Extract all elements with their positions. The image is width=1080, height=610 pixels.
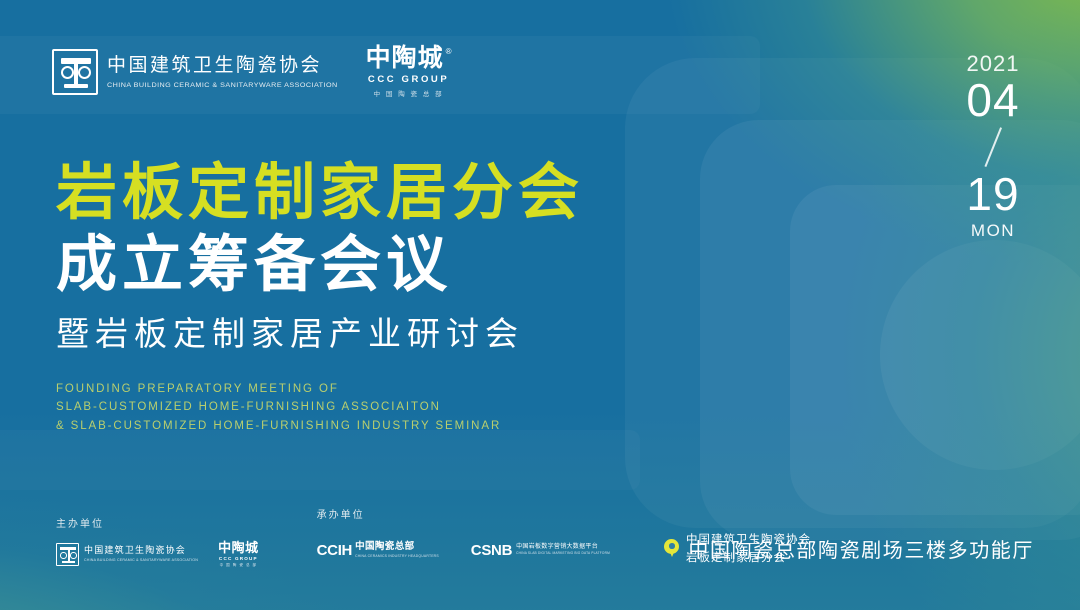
title-line-1: 岩板定制家居分会 bbox=[56, 158, 584, 226]
organizer-cbcsa-english: CHINA BUILDING CERAMIC & SANITARYWARE AS… bbox=[84, 558, 198, 562]
ccih-english: CHINA CERAMICS INDUSTRY HEADQUARTERS bbox=[355, 554, 439, 558]
organizer-group: 主办单位 中国建筑卫生陶瓷协会 CHINA BUILDING CERAMIC &… bbox=[56, 515, 259, 568]
date-month: 04 bbox=[950, 76, 1036, 124]
organizer-ccc-subtitle: 中 国 陶 瓷 总 部 bbox=[220, 563, 258, 568]
host-logo-csnb: CSNB 中国岩板数字营销大数据平台 CHINA SLAB DIGITAL MA… bbox=[471, 543, 610, 558]
ccc-chinese-name: 中陶城 bbox=[366, 46, 444, 71]
csnb-mark: CSNB bbox=[471, 543, 512, 558]
host-logo-ccih: CCIH 中国陶瓷总部 CHINA CERAMICS INDUSTRY HEAD… bbox=[317, 542, 439, 558]
cbcsa-emblem-icon-small bbox=[56, 543, 79, 566]
ccih-chinese: 中国陶瓷总部 bbox=[355, 542, 439, 552]
subtitle-english-block: FOUNDING PREPARATORY MEETING OF SLAB-CUS… bbox=[56, 380, 584, 436]
venue-text: 中国陶瓷总部陶瓷剧场三楼多功能厅 bbox=[688, 534, 1034, 563]
csnb-chinese: 中国岩板数字营销大数据平台 bbox=[516, 544, 610, 551]
organizer-logo-ccc: 中陶城 CCC GROUP 中 国 陶 瓷 总 部 bbox=[218, 541, 259, 568]
header-logos: 中国建筑卫生陶瓷协会 CHINA BUILDING CERAMIC & SANI… bbox=[52, 46, 452, 98]
ccih-mark: CCIH bbox=[317, 543, 352, 558]
organizer-logo-cbcsa: 中国建筑卫生陶瓷协会 CHINA BUILDING CERAMIC & SANI… bbox=[56, 543, 198, 566]
date-day: 19 bbox=[950, 170, 1036, 218]
organizer-ccc-chinese: 中陶城 bbox=[218, 541, 259, 554]
csnb-english: CHINA SLAB DIGITAL MARKETING BIG DATA PL… bbox=[516, 552, 610, 556]
date-year: 2021 bbox=[950, 52, 1036, 76]
date-weekday: MON bbox=[950, 221, 1036, 241]
map-pin-icon bbox=[664, 539, 679, 558]
subtitle-english-line-2: SLAB-CUSTOMIZED HOME-FURNISHING ASSOCIAI… bbox=[56, 398, 584, 417]
event-date-block: 2021 04 19 MON bbox=[950, 52, 1036, 241]
subtitle-chinese: 暨岩板定制家居产业研讨会 bbox=[56, 313, 584, 356]
host-label: 承办单位 bbox=[317, 506, 811, 521]
ccc-group-logo: 中陶城 ® CCC GROUP 中 国 陶 瓷 总 部 bbox=[366, 46, 452, 98]
title-line-2: 成立筹备会议 bbox=[56, 230, 584, 298]
subtitle-english-line-3: & SLAB-CUSTOMIZED HOME-FURNISHING INDUST… bbox=[56, 417, 584, 436]
subtitle-english-line-1: FOUNDING PREPARATORY MEETING OF bbox=[56, 380, 584, 399]
venue-block: 中国陶瓷总部陶瓷剧场三楼多功能厅 bbox=[664, 534, 1034, 563]
ccc-english-name: CCC GROUP bbox=[368, 74, 449, 85]
ccc-subtitle: 中 国 陶 瓷 总 部 bbox=[374, 88, 444, 98]
organizer-label: 主办单位 bbox=[56, 515, 259, 530]
title-block: 岩板定制家居分会 成立筹备会议 暨岩板定制家居产业研讨会 FOUNDING PR… bbox=[56, 158, 584, 435]
cbcsa-emblem-icon bbox=[52, 49, 98, 95]
cbcsa-logo: 中国建筑卫生陶瓷协会 CHINA BUILDING CERAMIC & SANI… bbox=[52, 49, 338, 95]
cbcsa-chinese-name: 中国建筑卫生陶瓷协会 bbox=[107, 55, 338, 77]
cbcsa-english-name: CHINA BUILDING CERAMIC & SANITARYWARE AS… bbox=[107, 80, 338, 89]
date-separator-icon bbox=[950, 124, 1036, 170]
organizer-ccc-english: CCC GROUP bbox=[219, 556, 258, 561]
conference-banner: 中国建筑卫生陶瓷协会 CHINA BUILDING CERAMIC & SANI… bbox=[0, 0, 1080, 610]
organizer-cbcsa-chinese: 中国建筑卫生陶瓷协会 bbox=[84, 546, 198, 556]
registered-mark-icon: ® bbox=[446, 47, 452, 56]
